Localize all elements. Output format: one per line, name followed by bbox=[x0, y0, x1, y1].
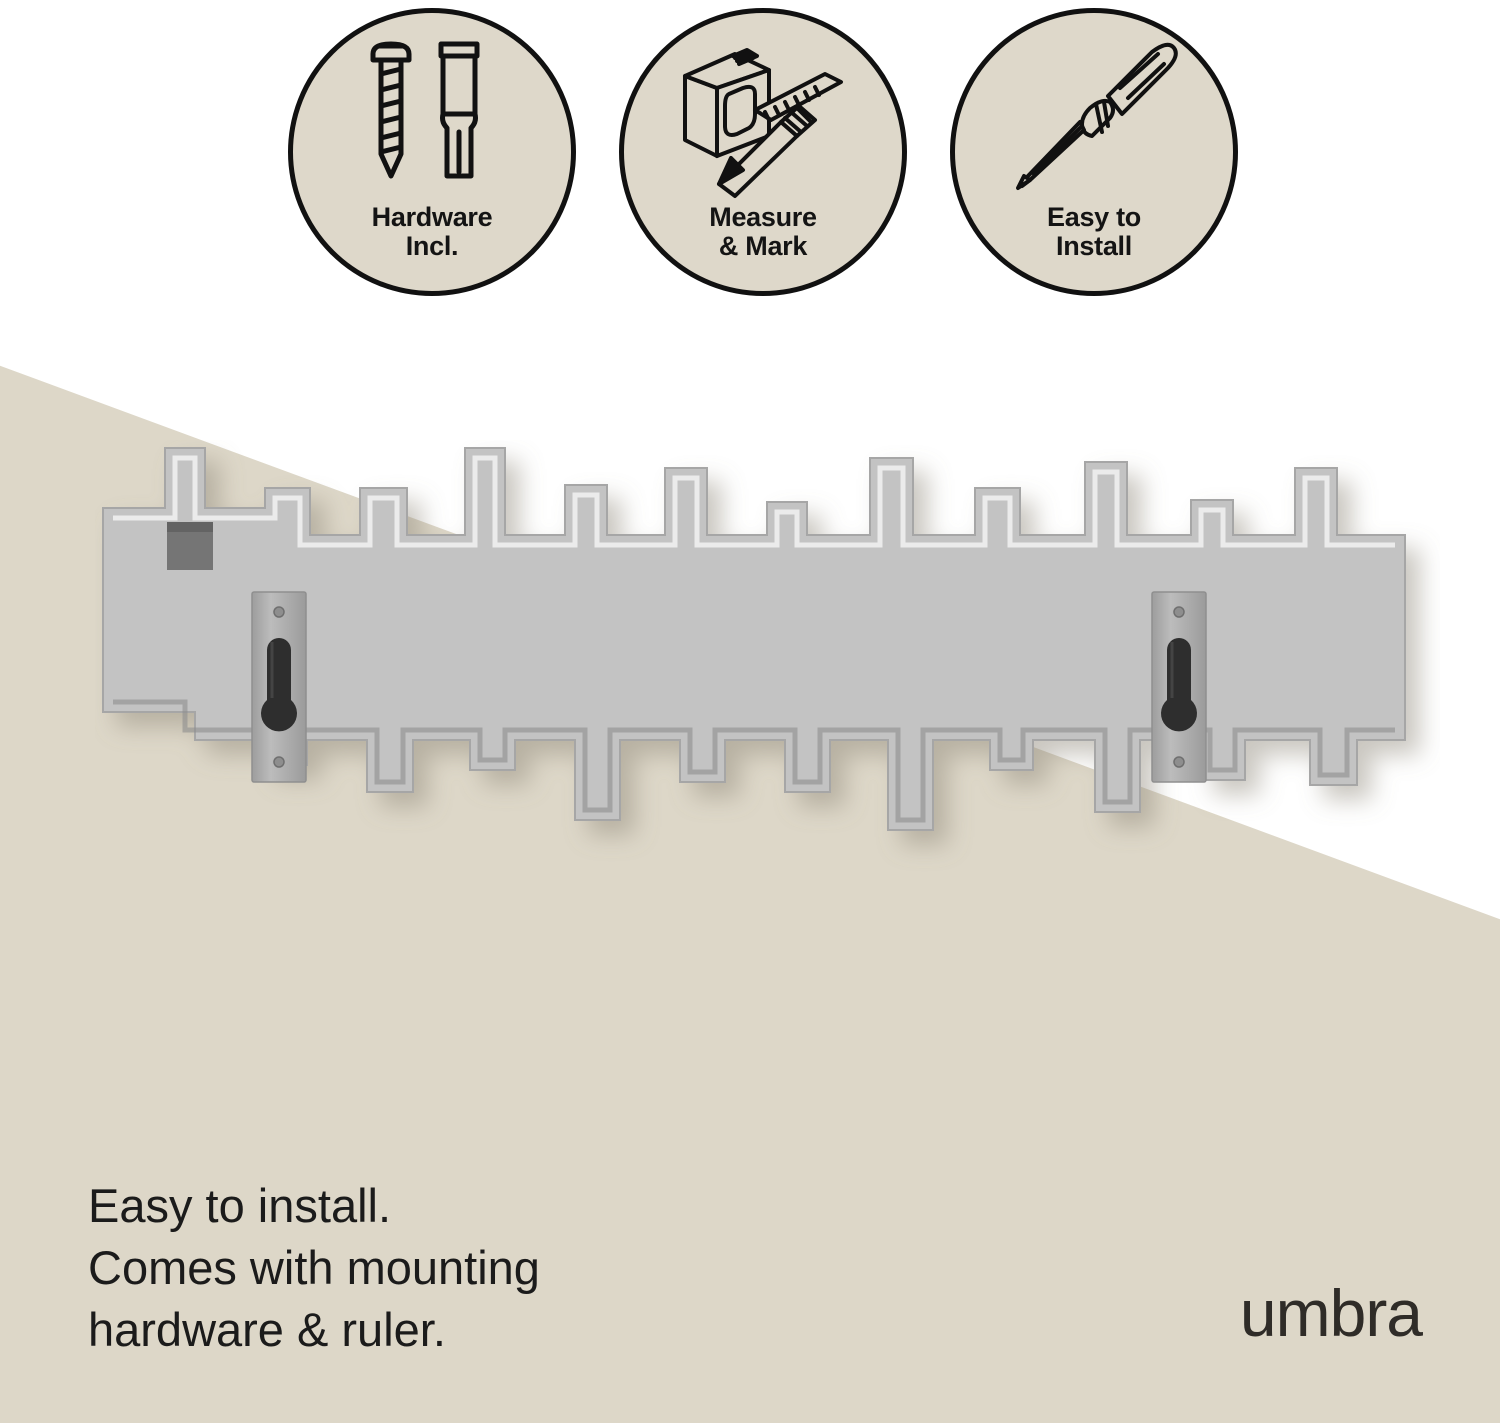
badge-hardware-included: Hardware Incl. bbox=[288, 8, 576, 296]
tape-measure-and-pencil-icon bbox=[668, 31, 858, 201]
badge-label-line-2: Incl. bbox=[372, 232, 493, 261]
headline-line-1: Easy to install. bbox=[88, 1175, 708, 1237]
headline-text: Easy to install. Comes with mounting har… bbox=[88, 1175, 708, 1361]
badge-label: Hardware Incl. bbox=[372, 203, 493, 261]
badge-label: Measure & Mark bbox=[709, 203, 816, 261]
badge-easy-to-install: Easy to Install bbox=[950, 8, 1238, 296]
bracket-screw-hole-bottom bbox=[1174, 757, 1184, 767]
badge-label-line-2: Install bbox=[1047, 232, 1141, 261]
badge-label-line-1: Measure bbox=[709, 203, 816, 232]
brand-logo-umbra: umbra bbox=[1240, 1280, 1422, 1346]
screwdriver-icon bbox=[999, 31, 1189, 201]
badge-measure-and-mark: Measure & Mark bbox=[619, 8, 907, 296]
product-marketing-image: Hardware Incl. bbox=[0, 0, 1500, 1423]
bracket-screw-hole-top bbox=[1174, 607, 1184, 617]
bracket-screw-hole-top bbox=[274, 607, 284, 617]
keyhole-bracket-right bbox=[1152, 592, 1206, 782]
badge-label-line-2: & Mark bbox=[709, 232, 816, 261]
screw-and-wall-anchor-icon bbox=[337, 31, 527, 201]
bracket-screw-hole-bottom bbox=[274, 757, 284, 767]
headline-line-3: hardware & ruler. bbox=[88, 1299, 708, 1361]
badge-label-line-1: Easy to bbox=[1047, 203, 1141, 232]
headline-line-2: Comes with mounting bbox=[88, 1237, 708, 1299]
badge-label-line-1: Hardware bbox=[372, 203, 493, 232]
product-image-pixelated-wall-hook-rack bbox=[95, 440, 1440, 940]
badge-label: Easy to Install bbox=[1047, 203, 1141, 261]
keyhole-bracket-left bbox=[252, 592, 306, 782]
feature-badge-row: Hardware Incl. bbox=[288, 8, 1238, 298]
